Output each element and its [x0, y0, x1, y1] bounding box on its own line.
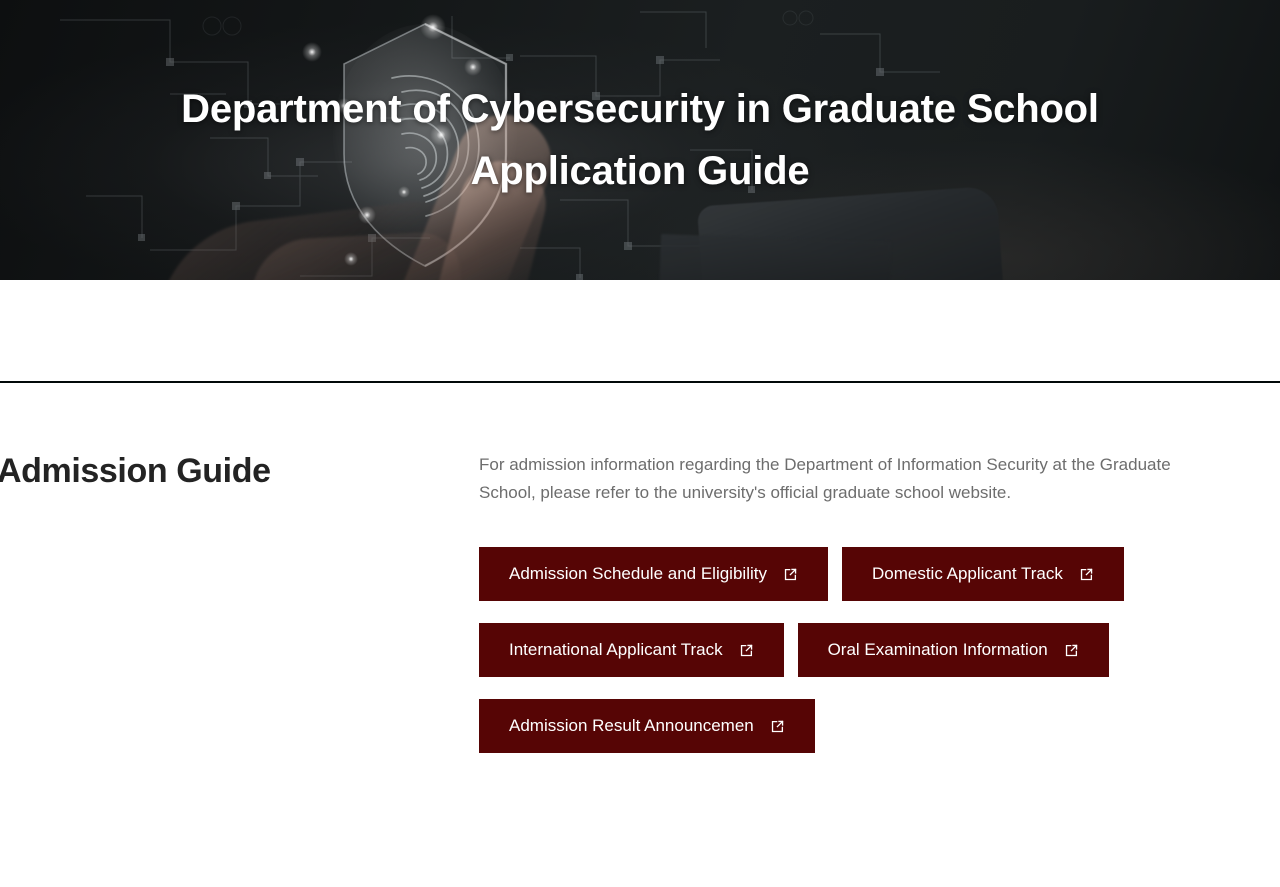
hero-banner: Department of Cybersecurity in Graduate … [0, 0, 1280, 280]
external-link-button-group: Admission Schedule and Eligibility Domes… [479, 547, 1239, 753]
international-applicant-track-button[interactable]: International Applicant Track [479, 623, 784, 677]
external-link-icon [783, 567, 798, 582]
oral-examination-information-button[interactable]: Oral Examination Information [798, 623, 1109, 677]
page-title: Department of Cybersecurity in Graduate … [0, 78, 1280, 202]
sleeve-cuff-shadow [659, 234, 891, 280]
button-row: Admission Result Announcemen [479, 699, 1239, 753]
external-link-icon [1064, 643, 1079, 658]
admission-schedule-and-eligibility-button[interactable]: Admission Schedule and Eligibility [479, 547, 828, 601]
button-row: Admission Schedule and Eligibility Domes… [479, 547, 1239, 601]
button-label: Oral Examination Information [828, 623, 1048, 677]
button-label: Domestic Applicant Track [872, 547, 1063, 601]
button-label: Admission Result Announcemen [509, 699, 754, 753]
main-content: Admission Guide For admission informatio… [0, 383, 1280, 445]
external-link-icon [739, 643, 754, 658]
domestic-applicant-track-button[interactable]: Domestic Applicant Track [842, 547, 1124, 601]
content-right-column: For admission information regarding the … [479, 451, 1239, 775]
admission-result-announcement-button[interactable]: Admission Result Announcemen [479, 699, 815, 753]
section-heading: Admission Guide [0, 445, 417, 497]
button-label: Admission Schedule and Eligibility [509, 547, 767, 601]
button-row: International Applicant Track Oral Exami… [479, 623, 1239, 677]
external-link-icon [770, 719, 785, 734]
nav-band-empty [0, 280, 1280, 381]
external-link-icon [1079, 567, 1094, 582]
intro-paragraph: For admission information regarding the … [479, 451, 1224, 507]
button-label: International Applicant Track [509, 623, 723, 677]
